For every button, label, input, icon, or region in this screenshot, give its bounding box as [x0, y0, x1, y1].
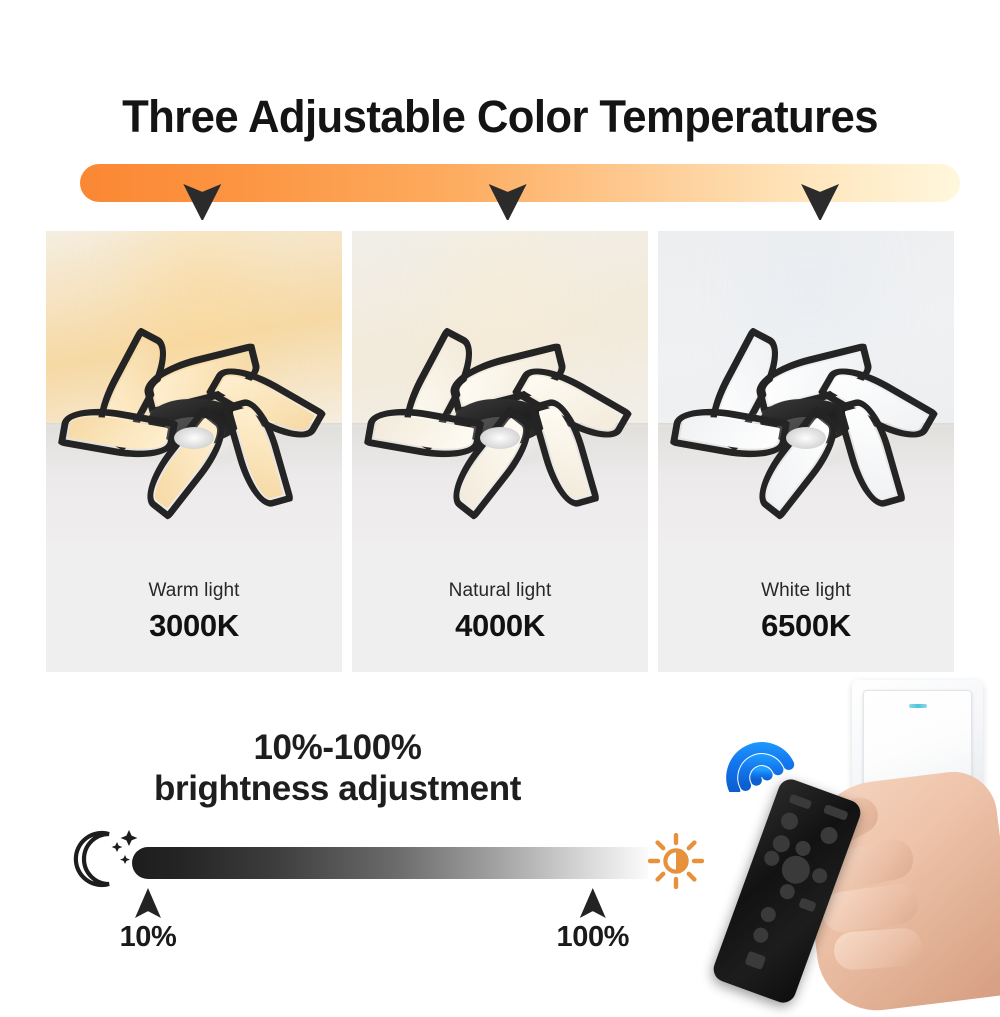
remote-button-fan[interactable] — [818, 825, 840, 847]
remote-button-minus[interactable] — [751, 926, 770, 945]
panel-kelvin-value: 6500K — [658, 608, 954, 644]
temperature-panel-natural: Natural light4000K — [352, 231, 648, 672]
led-strip — [68, 411, 168, 455]
hand-holding-remote — [722, 760, 1000, 1000]
remote-button-right[interactable] — [810, 866, 829, 885]
product-photo-warm — [46, 231, 342, 540]
remote-button-light[interactable] — [779, 810, 801, 832]
remote-button-scene[interactable] — [745, 951, 767, 970]
temperature-panel-white: White light6500K — [658, 231, 954, 672]
brightness-min-label: 10% — [120, 921, 177, 954]
panel-light-name: Natural light — [352, 580, 648, 602]
fan-motor-cap — [174, 427, 214, 449]
color-temperature-scale — [80, 164, 960, 202]
brightness-heading: 10%-100% brightness adjustment — [55, 727, 620, 809]
triangle-up-icon — [580, 888, 606, 918]
fan-motor-cap — [786, 427, 826, 449]
page-title: Three Adjustable Color Temperatures — [15, 91, 985, 143]
ceiling-fan-light — [58, 343, 330, 495]
remote-dial[interactable] — [778, 852, 814, 888]
product-photo-white — [658, 231, 954, 540]
remote-button-plus[interactable] — [759, 905, 778, 924]
sun-brightness-icon — [648, 833, 704, 889]
panel-light-name: White light — [658, 580, 954, 602]
remote-button-power[interactable] — [788, 794, 812, 810]
panel-kelvin-value: 3000K — [46, 608, 342, 644]
remote-button-sleep[interactable] — [823, 804, 849, 821]
fan-motor-cap — [480, 427, 520, 449]
remote-button-mode[interactable] — [798, 897, 816, 912]
panel-caption-white: White light6500K — [658, 540, 954, 672]
panel-caption-natural: Natural light4000K — [352, 540, 648, 672]
triangle-up-icon — [135, 888, 161, 918]
brightness-gradient-bar[interactable] — [132, 847, 648, 879]
panel-caption-warm: Warm light3000K — [46, 540, 342, 672]
led-indicator-icon — [909, 704, 927, 708]
finger-ring — [833, 927, 923, 971]
panel-light-name: Warm light — [46, 580, 342, 602]
product-photo-natural — [352, 231, 648, 540]
ceiling-fan-light — [364, 343, 636, 495]
led-strip — [680, 411, 780, 455]
brightness-max-label: 100% — [556, 921, 629, 954]
brightness-label-text: brightness adjustment — [55, 768, 620, 809]
color-temperature-panels: Warm light3000KNatural light4000KWhite l… — [46, 231, 954, 672]
panel-kelvin-value: 4000K — [352, 608, 648, 644]
remote-button-down[interactable] — [778, 882, 797, 901]
brightness-range-text: 10%-100% — [55, 727, 620, 768]
led-strip — [374, 411, 474, 455]
temperature-panel-warm: Warm light3000K — [46, 231, 342, 672]
ceiling-fan-light — [670, 343, 942, 495]
